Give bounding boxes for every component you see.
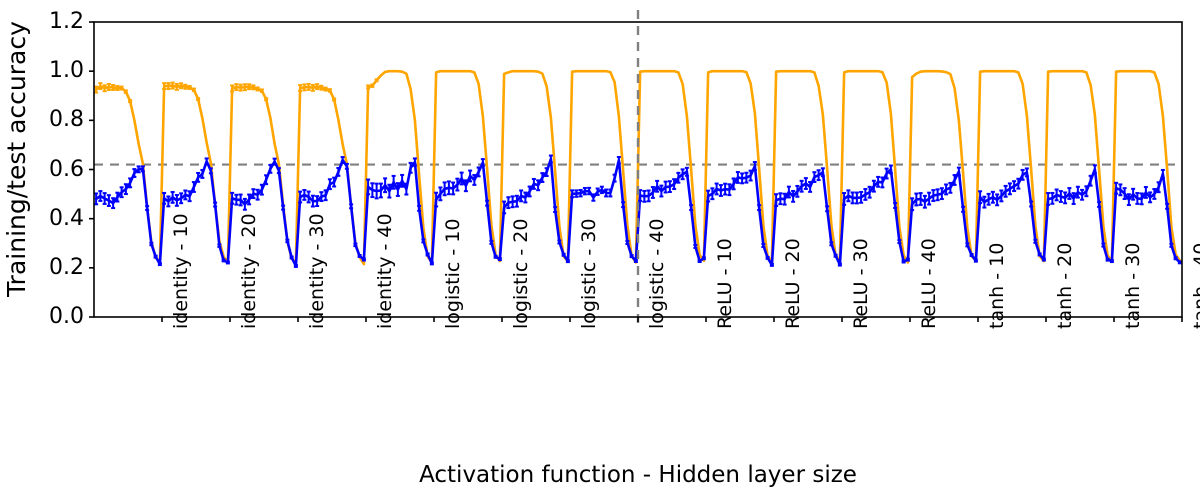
x-tick-label: tanh - 40 — [1190, 243, 1200, 329]
x-tick-label: identity - 10 — [170, 213, 192, 329]
x-tick-label: identity - 20 — [238, 213, 260, 329]
x-tick-label: tanh - 20 — [1054, 243, 1076, 329]
x-tick-label: ReLU - 20 — [782, 238, 804, 329]
x-tick-label: logistic - 30 — [578, 219, 600, 329]
x-tick-label: tanh - 30 — [1122, 243, 1144, 329]
x-tick-label: identity - 30 — [306, 213, 328, 329]
x-tick-label: logistic - 10 — [442, 219, 464, 329]
x-axis-tick-labels: identity - 10identity - 20identity - 30i… — [0, 0, 1200, 500]
x-axis-label: Activation function - Hidden layer size — [94, 462, 1182, 488]
x-tick-label: ReLU - 30 — [850, 238, 872, 329]
x-tick-label: tanh - 10 — [986, 243, 1008, 329]
x-tick-label: logistic - 20 — [510, 219, 532, 329]
x-tick-label: ReLU - 10 — [714, 238, 736, 329]
x-tick-label: ReLU - 40 — [918, 238, 940, 329]
x-tick-label: logistic - 40 — [646, 219, 668, 329]
x-tick-label: identity - 40 — [374, 213, 396, 329]
figure: Training/test accuracy 0.00.20.40.60.81.… — [0, 0, 1200, 500]
